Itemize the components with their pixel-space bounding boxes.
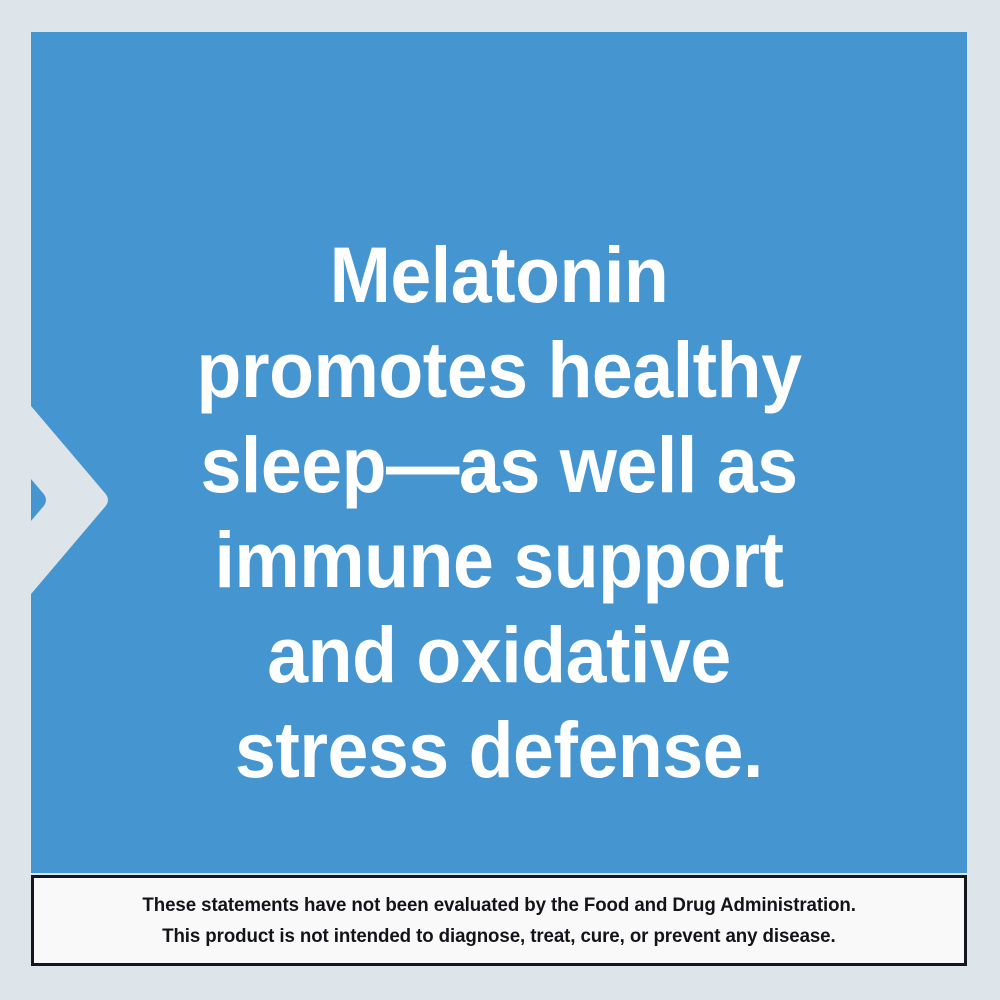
headline-container: Melatonin promotes healthy sleep—as well… <box>31 32 967 873</box>
disclaimer-line-1: These statements have not been evaluated… <box>142 890 855 921</box>
product-claim-card: Melatonin promotes healthy sleep—as well… <box>0 0 1000 1000</box>
disclaimer-line-2: This product is not intended to diagnose… <box>162 921 835 952</box>
fda-disclaimer-box: These statements have not been evaluated… <box>31 875 967 966</box>
page-title: Melatonin promotes healthy sleep—as well… <box>164 227 834 797</box>
